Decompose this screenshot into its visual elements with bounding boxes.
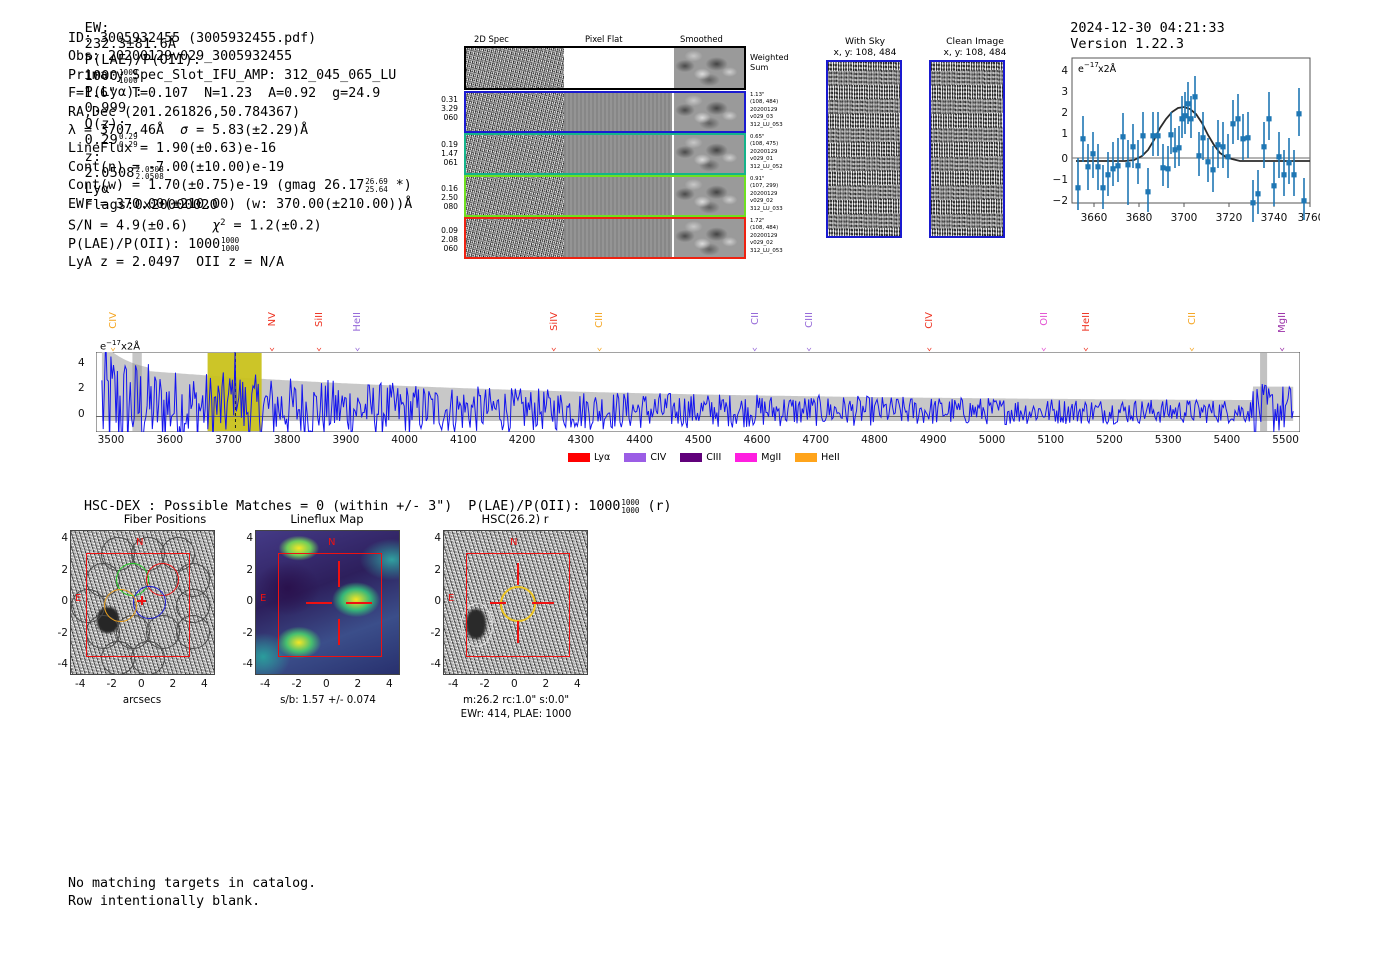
line-label-siii-2: SiII [314, 312, 325, 327]
mosaic-col-title-2dspec: 2D Spec [474, 34, 509, 44]
hsc-r-xtick-1: -2 [480, 678, 490, 690]
info-wavelength: λ = 3707.46Å σ = 5.83(±2.29)Å [68, 122, 412, 140]
svg-text:3720: 3720 [1216, 212, 1243, 224]
info-spec-slot: Primary Spec_Slot_IFU_AMP: 312_045_065_L… [68, 67, 412, 85]
fiber-positions-ytick-0: 4 [61, 532, 68, 544]
lineflux-map-xticks: -4-2024 [255, 678, 400, 694]
hsc-r-xticks: -4-2024 [443, 678, 588, 694]
info-radec: RA,Dec (201.261826,50.784367) [68, 104, 412, 122]
fullspec-xtick-3600: 3600 [156, 434, 183, 446]
lineflux-map-xtick-0: -4 [260, 678, 270, 690]
fiber-positions-image: N E [70, 530, 215, 675]
legend-swatch-lyα [568, 453, 590, 462]
legend-label-heii: HeII [821, 452, 840, 463]
fullspec-xtick-3500: 3500 [98, 434, 125, 446]
mosaic-row-weighted-sum [464, 46, 746, 90]
legend-swatch-civ [624, 453, 646, 462]
fullspec-xtick-4500: 4500 [685, 434, 712, 446]
fiber-east-label: E [75, 593, 81, 604]
lineflux-map-ytick-0: 4 [246, 532, 253, 544]
lineflux-map-ytick-3: -2 [243, 627, 253, 639]
line-label-nv-1: NV [267, 312, 278, 326]
hsc-r-caption2: EWr: 414, PLAE: 1000 [441, 709, 591, 720]
fullspec-xtick-5400: 5400 [1214, 434, 1241, 446]
hsc-r-yticks: 420-2-4 [421, 530, 441, 675]
fullspec-xtick-3900: 3900 [333, 434, 360, 446]
fiber-north-label: N [136, 537, 143, 548]
cutout-with-sky-image [826, 60, 902, 238]
catalog-note-line2: Row intentionally blank. [68, 893, 316, 911]
fiber-positions-xtick-2: 0 [138, 678, 145, 690]
info-obs: Obs: 20200129v029_3005932455 [68, 48, 412, 66]
fullspec-xtick-5300: 5300 [1155, 434, 1182, 446]
svg-text:3: 3 [1061, 86, 1068, 98]
svg-text:2: 2 [1061, 107, 1068, 119]
fullspec-xtick-4200: 4200 [509, 434, 536, 446]
info-cont-narrow: Cont(n) = -7.00(±10.00)e-19 [68, 159, 412, 177]
lineflux-map-image: N E [255, 530, 400, 675]
hsc-r-xtick-2: 0 [511, 678, 518, 690]
mosaic-row-3-right-values: 0.91" (107, 299) 20200129 v029_02 312_LU… [750, 176, 783, 213]
info-sn-chi: S/N = 4.9(±0.6) χ2 = 1.2(±0.2) [68, 214, 412, 236]
hsc-r-xtick-0: -4 [448, 678, 458, 690]
emission-line-label-row: CIV⌄NV⌄SiII⌄HeII⌄SiIV⌄CIII⌄CII⌄CIII⌄CIV⌄… [96, 312, 1300, 354]
full-spectrum-plot [96, 352, 1300, 432]
line-label-cii-6: CII [750, 312, 761, 325]
fiber-positions-ytick-4: -4 [58, 658, 68, 670]
catalog-note-line1: No matching targets in catalog. [68, 875, 316, 893]
fiber-positions-caption: arcsecs [92, 695, 192, 706]
mosaic-row-3-left-values: 0.16 2.50 080 [424, 184, 458, 212]
hsc-dex-plae-range: 10001000 [621, 499, 639, 514]
svg-text:3660: 3660 [1081, 212, 1108, 224]
detection-info-block: ID: 3005932455 (3005932455.pdf) Obs: 202… [68, 30, 412, 273]
fullspec-unit-label: e−17x2Å [100, 339, 140, 352]
svg-text:3760: 3760 [1298, 212, 1320, 224]
hsc-r-xtick-3: 2 [543, 678, 550, 690]
lineflux-north-label: N [328, 537, 335, 548]
fullspec-xtick-3700: 3700 [215, 434, 242, 446]
fullspec-ytick-0: 0 [78, 408, 85, 420]
legend-label-civ: CIV [650, 452, 666, 463]
fiber-positions-ytick-1: 2 [61, 564, 68, 576]
info-plae: P(LAE)/P(OII): 100010001000 [68, 236, 412, 254]
info-seeing: F=1.6" T=0.107 N=1.23 A=0.92 g=24.9 [68, 85, 412, 103]
fullspec-xtick-4600: 4600 [744, 434, 771, 446]
legend-swatch-mgii [735, 453, 757, 462]
legend-item-heii: HeII [795, 452, 840, 463]
header-timestamp: 2024-12-30 04:21:33 [1070, 20, 1224, 36]
hsc-r-ytick-3: -2 [431, 627, 441, 639]
fullspec-xtick-3800: 3800 [274, 434, 301, 446]
info-redshift: LyA z = 2.0497 OII z = N/A [68, 254, 412, 272]
svg-text:0: 0 [1061, 153, 1068, 165]
fullspec-ytick-2: 2 [78, 382, 85, 394]
lineflux-map-xtick-3: 2 [355, 678, 362, 690]
legend-item-mgii: MgII [735, 452, 781, 463]
fiber-positions-xtick-0: -4 [75, 678, 85, 690]
fiber-positions-xticks: -4-2024 [70, 678, 215, 694]
mosaic-row-1 [464, 91, 746, 133]
lineflux-aperture-box [278, 553, 382, 657]
cutout-clean-image [929, 60, 1005, 238]
info-plae-range: 10001000 [221, 237, 239, 252]
hsc-east-label: E [448, 593, 454, 604]
line-label-heii-10: HeII [1081, 312, 1092, 332]
fullspec-xtick-4100: 4100 [450, 434, 477, 446]
hsc-north-label: N [510, 537, 517, 548]
lineflux-map-xtick-4: 4 [386, 678, 393, 690]
legend-swatch-ciii [680, 453, 702, 462]
lineflux-map-ytick-2: 0 [246, 595, 253, 607]
line-zoom-plot: 432 10−1−2 366036803700 372037403760 [1030, 50, 1320, 245]
fullspec-xaxis-ticks: 3500360037003800390040004100420043004400… [96, 434, 1300, 450]
mosaic-weighted-sum-label: Weighted Sum [750, 52, 789, 72]
mosaic-row-2-right-values: 0.65" (108, 475) 20200129 v029_01 312_LU… [750, 134, 783, 171]
header-timestamp-block: 2024-12-30 04:21:33 Version 1.22.3 [1054, 4, 1233, 52]
line-label-heii-3: HeII [352, 312, 363, 332]
legend-label-ciii: CIII [706, 452, 721, 463]
mosaic-col-title-pixelflat: Pixel Flat [585, 34, 623, 44]
panel-lineflux-map-title: Lineflux Map [232, 512, 422, 526]
fullspec-xtick-4400: 4400 [626, 434, 653, 446]
hsc-dex-suffix: (r) [639, 499, 671, 514]
hsc-r-ytick-0: 4 [434, 532, 441, 544]
legend-label-lyα: Lyα [594, 452, 610, 463]
mosaic-row-2 [464, 133, 746, 175]
mosaic-row-4-right-values: 1.72" (108, 484) 20200129 v029_02 312_LU… [750, 218, 783, 255]
lineflux-map-xtick-2: 0 [323, 678, 330, 690]
fullspec-xtick-5200: 5200 [1096, 434, 1123, 446]
fiber-aperture-box [86, 553, 190, 657]
fiber-positions-xtick-3: 2 [170, 678, 177, 690]
info-ewr: EWr = 370.00(±210.00) (w: 370.00(±210.00… [68, 196, 412, 214]
info-lineflux: LineFlux = 1.90(±0.63)e-16 [68, 140, 412, 158]
hsc-r-ytick-4: -4 [431, 658, 441, 670]
hsc-r-caption: m:26.2 rc:1.0" s:0.0" [441, 695, 591, 706]
lineflux-east-label: E [260, 593, 266, 604]
lineflux-map-ytick-4: -4 [243, 658, 253, 670]
fullspec-xtick-4700: 4700 [802, 434, 829, 446]
line-zoom-svg: 432 10−1−2 366036803700 372037403760 [1030, 50, 1320, 245]
fullspec-ytick-4: 4 [78, 357, 85, 369]
catalog-empty-note: No matching targets in catalog. Row inte… [68, 875, 316, 912]
line-label-civ-8: CIV [924, 312, 935, 329]
cutout-with-sky-title: With Sky x, y: 108, 484 [820, 36, 910, 58]
legend-item-lyα: Lyα [568, 452, 610, 463]
mosaic-col-title-smoothed: Smoothed [680, 34, 723, 44]
svg-text:3740: 3740 [1261, 212, 1288, 224]
mosaic-row-1-right-values: 1.13" (108, 484) 20200129 v029_03 312_LU… [750, 92, 783, 129]
fullspec-xtick-5500: 5500 [1272, 434, 1299, 446]
line-label-siiv-4: SiIV [549, 312, 560, 331]
panel-hsc-r-title: HSC(26.2) r [420, 512, 610, 526]
line-label-civ-0: CIV [108, 312, 119, 329]
cutout-clean-title: Clean Image x, y: 108, 484 [925, 36, 1025, 58]
fullspec-xtick-5000: 5000 [979, 434, 1006, 446]
twod-spectra-mosaic: 2D Spec Pixel Flat Smoothed Weighted Sum… [428, 34, 768, 249]
mosaic-row-4 [464, 217, 746, 259]
fullspec-xtick-4300: 4300 [567, 434, 594, 446]
fullspec-xtick-4800: 4800 [861, 434, 888, 446]
svg-text:3700: 3700 [1171, 212, 1198, 224]
fiber-positions-xtick-4: 4 [201, 678, 208, 690]
mosaic-row-3 [464, 175, 746, 217]
hsc-r-image: N E [443, 530, 588, 675]
line-label-ciii-7: CIII [804, 312, 815, 328]
mosaic-row-2-left-values: 0.19 1.47 061 [424, 140, 458, 168]
lineflux-map-yticks: 420-2-4 [233, 530, 253, 675]
info-cont-wide: Cont(w) = 1.70(±0.75)e-19 (gmag 26.1726.… [68, 177, 412, 195]
lineflux-map-ytick-1: 2 [246, 564, 253, 576]
svg-text:−1: −1 [1053, 174, 1068, 186]
legend-swatch-heii [795, 453, 817, 462]
hsc-r-ytick-2: 0 [434, 595, 441, 607]
fiber-positions-ytick-2: 0 [61, 595, 68, 607]
info-id: ID: 3005932455 (3005932455.pdf) [68, 30, 412, 48]
fiber-positions-ytick-3: -2 [58, 627, 68, 639]
line-label-cii-11: CII [1187, 312, 1198, 325]
svg-text:x2Å: x2Å [1098, 63, 1117, 75]
legend-item-ciii: CIII [680, 452, 721, 463]
fullspec-xtick-4900: 4900 [920, 434, 947, 446]
full-spectrum-svg [96, 352, 1300, 432]
lineflux-map-xtick-1: -2 [292, 678, 302, 690]
legend-item-civ: CIV [624, 452, 666, 463]
hsc-dex-summary-line: HSC-DEX : Possible Matches = 0 (within +… [68, 484, 671, 514]
line-label-oii-9: OII [1039, 312, 1050, 326]
fiber-positions-xtick-1: -2 [107, 678, 117, 690]
fiber-positions-yticks: 420-2-4 [48, 530, 68, 675]
info-gmag-range: 26.6925.64 [365, 178, 388, 193]
svg-text:3680: 3680 [1126, 212, 1153, 224]
mosaic-row-1-left-values: 0.31 3.29 060 [424, 95, 458, 123]
svg-text:1: 1 [1061, 128, 1068, 140]
line-label-ciii-5: CIII [594, 312, 605, 328]
svg-text:−17: −17 [1084, 61, 1099, 69]
mosaic-row-4-left-values: 0.09 2.08 060 [424, 226, 458, 254]
fullspec-xtick-4000: 4000 [391, 434, 418, 446]
hsc-extraction-circle [500, 586, 536, 622]
legend-label-mgii: MgII [761, 452, 781, 463]
svg-text:−2: −2 [1053, 195, 1068, 207]
lineflux-map-caption: s/b: 1.57 +/- 0.074 [263, 695, 393, 706]
hsc-r-ytick-1: 2 [434, 564, 441, 576]
line-label-mgii-12: MgII [1277, 312, 1288, 333]
hsc-r-xtick-4: 4 [574, 678, 581, 690]
svg-text:4: 4 [1061, 65, 1068, 77]
spectrum-legend: LyαCIVCIIIMgIIHeII [568, 452, 854, 463]
fullspec-xtick-5100: 5100 [1037, 434, 1064, 446]
